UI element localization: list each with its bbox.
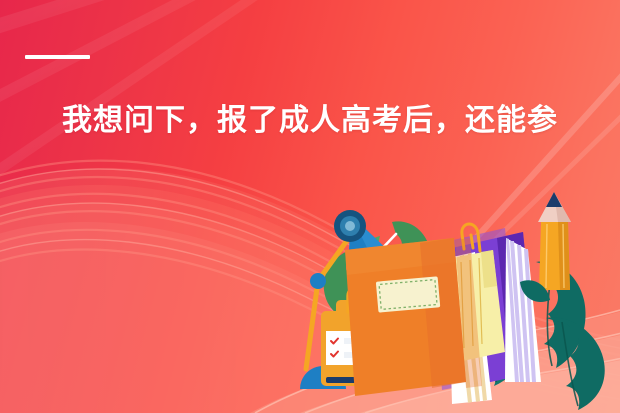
pencil [538,192,571,290]
lamp-joint [310,273,326,289]
striped-pages-right [505,238,541,382]
orange-notebook [345,238,466,396]
promo-banner: 我想问下，报了成人高考后，还能参 [0,0,620,413]
title-underline [25,55,90,59]
notebook-label [376,276,440,312]
page-title: 我想问下，报了成人高考后，还能参 [62,103,558,140]
study-desk-illustration [0,0,620,413]
